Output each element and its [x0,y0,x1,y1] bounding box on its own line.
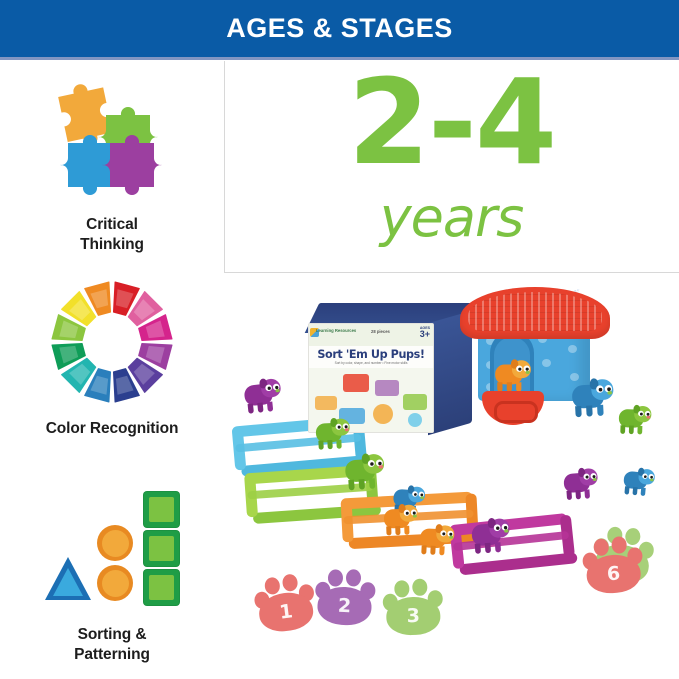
header-banner: AGES & STAGES [0,0,679,57]
pup-blue-edge [623,467,656,497]
pup-green-center [344,453,385,490]
dog-house-handle [482,391,544,425]
pup-purple-far-right [563,468,599,500]
paw-card-number: 3 [406,606,420,625]
dog-house-roof [460,287,610,339]
ages-badge-value: 3+ [420,330,430,338]
feature-critical-thinking: Critical Thinking [0,75,224,254]
paw-card-6: 6 [578,533,648,597]
puzzle-pieces-icon [41,77,183,201]
box-product-title: Sort 'Em Up Pups! [309,348,433,361]
feature-label-line: Patterning [74,645,150,665]
features-column: Critical Thinking Color Recognition [0,61,224,679]
pup-green-upper [315,418,351,450]
box-front-face: Learning Resources 28 pieces AGES 3+ Sor… [308,323,434,433]
square-icon [143,491,180,528]
pup-green-right [618,405,651,435]
header-underline [0,57,679,60]
paw-card-number: 6 [606,564,621,584]
feature-label-line: Thinking [80,235,144,255]
ages-and-stages-infographic: AGES & STAGES [0,0,679,679]
brand-name: Learning Resources [316,328,356,333]
feature-sorting-patterning: Sorting & Patterning [0,485,224,664]
product-box: Sort 'Em Up Pups! 3+ Learning Resources … [302,303,472,433]
shapes-sorting-icon [43,489,183,609]
feature-label-line: Color Recognition [46,419,179,439]
feature-label-critical-thinking: Critical Thinking [80,215,144,254]
feature-label-line: Critical [80,215,144,235]
sorting-patterning-art [27,485,197,615]
feature-label-sorting-patterning: Sorting & Patterning [74,625,150,664]
square-icon [143,569,180,606]
age-range-value: 2-4 [224,63,679,181]
color-wheel-icon [49,279,175,405]
pup-orange-inside [495,360,531,392]
paw-card-number: 1 [278,602,293,622]
paw-card-3: 3 [379,576,447,638]
pup-blue-right [571,379,614,418]
circle-icon [97,565,133,601]
feature-label-color-recognition: Color Recognition [46,419,179,439]
pup-orange-fence-b [419,524,455,556]
product-photo: Sort 'Em Up Pups! 3+ Learning Resources … [224,273,679,679]
ages-badge: AGES 3+ [420,326,430,338]
age-range-panel: 2-4 years [224,61,679,272]
paw-card-number: 2 [337,596,351,616]
critical-thinking-art [27,75,197,205]
feature-label-line: Sorting & [74,625,150,645]
piece-count: 28 pieces [371,329,390,334]
color-recognition-art [27,279,197,409]
square-icon [143,530,180,567]
paw-card-pad: 3 [386,596,441,636]
pup-purple-left [243,378,283,414]
page-title: AGES & STAGES [226,15,453,42]
pup-orange-fence-a [383,504,418,535]
pup-purple-fence [471,518,511,554]
box-product-subtitle: Sort by color, shape, and number • Fine … [309,361,433,365]
age-range-unit: years [224,191,679,245]
feature-color-recognition: Color Recognition [0,279,224,439]
circle-icon [97,525,133,561]
paw-card-1: 1 [249,569,322,637]
paw-card-2: 2 [310,565,379,628]
triangle-icon [43,555,93,603]
